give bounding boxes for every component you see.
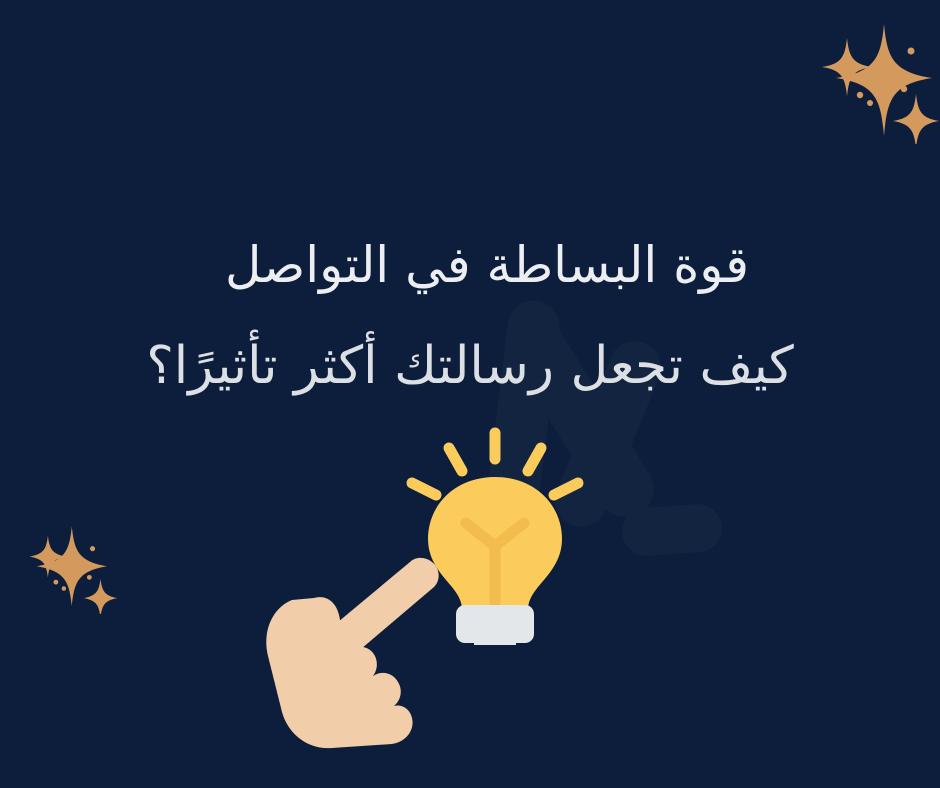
sparkle-cluster-bottom-left <box>24 512 126 614</box>
sparkles-icon <box>812 16 940 144</box>
pointing-hand-illustration <box>262 552 462 752</box>
watermark-blob <box>620 503 723 558</box>
headline-line-1: قوة البساطة في التواصل <box>0 228 940 302</box>
poster-canvas: قوة البساطة في التواصل كيف تجعل رسالتك أ… <box>0 0 940 788</box>
headline-line-2: كيف تجعل رسالتك أكثر تأثيرًا؟ <box>0 327 940 405</box>
sparkles-icon <box>24 512 126 614</box>
sparkle-cluster-top-right <box>812 16 940 144</box>
pointing-hand-icon <box>262 552 462 752</box>
bulb-base-screw <box>474 635 516 645</box>
